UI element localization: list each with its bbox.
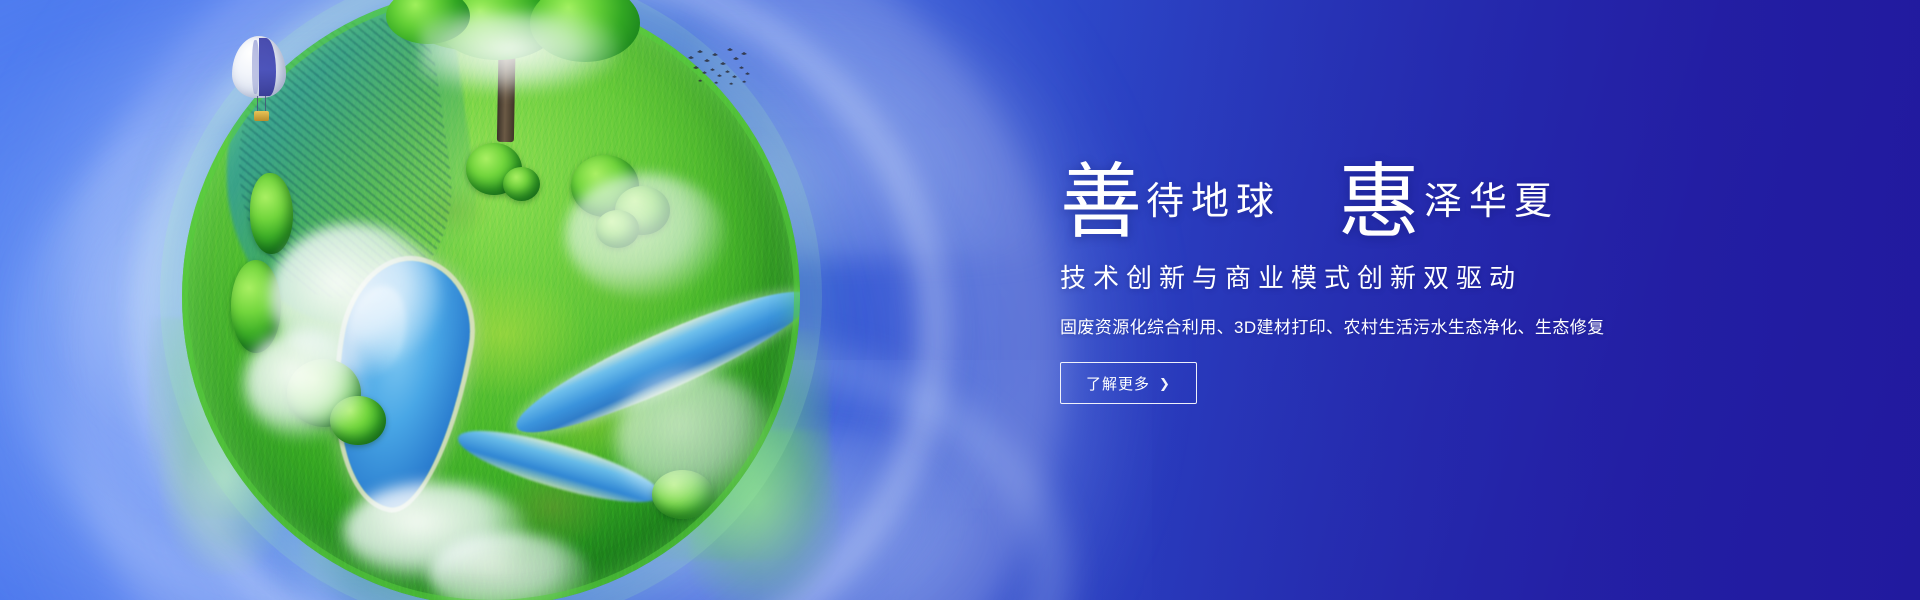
learn-more-label: 了解更多: [1086, 373, 1150, 394]
hero-banner: 善待地球 惠泽华夏 技术创新与商业模式创新双驱动 固废资源化综合利用、3D建材打…: [0, 0, 1920, 600]
headline-phrase-two: 惠泽华夏: [1338, 150, 1559, 232]
balloon-rope: [265, 96, 266, 112]
banner-copy: 善待地球 惠泽华夏 技术创新与商业模式创新双驱动 固废资源化综合利用、3D建材打…: [1060, 150, 1760, 404]
page-title: 善待地球 惠泽华夏: [1060, 150, 1760, 242]
balloon-stripe-light: [252, 40, 259, 94]
bird-flock-icon: [686, 46, 750, 88]
planet-cloud: [565, 173, 726, 297]
chevron-right-icon: ❯: [1159, 377, 1171, 390]
headline-lead-char-one: 善: [1060, 157, 1142, 248]
headline-lead-char-two: 惠: [1338, 157, 1420, 248]
learn-more-button[interactable]: 了解更多 ❯: [1060, 362, 1197, 404]
hot-air-balloon-icon: [232, 36, 288, 128]
headline-phrase-one: 善待地球: [1060, 150, 1281, 232]
large-tree-icon: [380, 0, 650, 144]
headline-rest-one: 待地球: [1146, 181, 1281, 223]
tree-mist: [420, 12, 620, 94]
headline-rest-two: 泽华夏: [1424, 181, 1559, 223]
banner-description: 固废资源化综合利用、3D建材打印、农村生活污水生态净化、生态修复: [1060, 313, 1760, 338]
planet-cloud: [615, 371, 776, 507]
banner-subtitle: 技术创新与商业模式创新双驱动: [1060, 258, 1760, 295]
planet-cloud: [244, 328, 368, 439]
tree-cluster-icon: [250, 173, 293, 253]
balloon-rope: [257, 96, 258, 112]
balloon-basket: [254, 111, 269, 121]
